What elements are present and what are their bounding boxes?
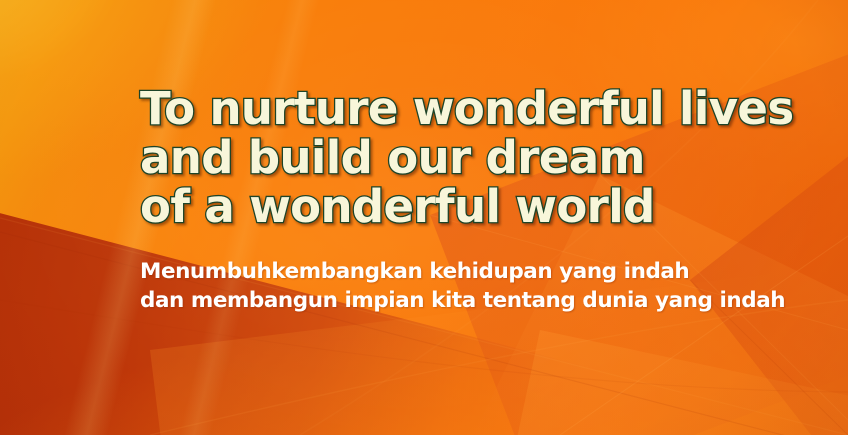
vision-banner: To nurture wonderful lives and build our… [0,0,848,435]
background-facet-d [486,330,848,435]
headline-english: To nurture wonderful lives and build our… [140,84,830,231]
text-block: To nurture wonderful lives and build our… [140,84,830,315]
subheadline-indonesian: Menumbuhkembangkan kehidupan yang indah … [140,231,830,315]
